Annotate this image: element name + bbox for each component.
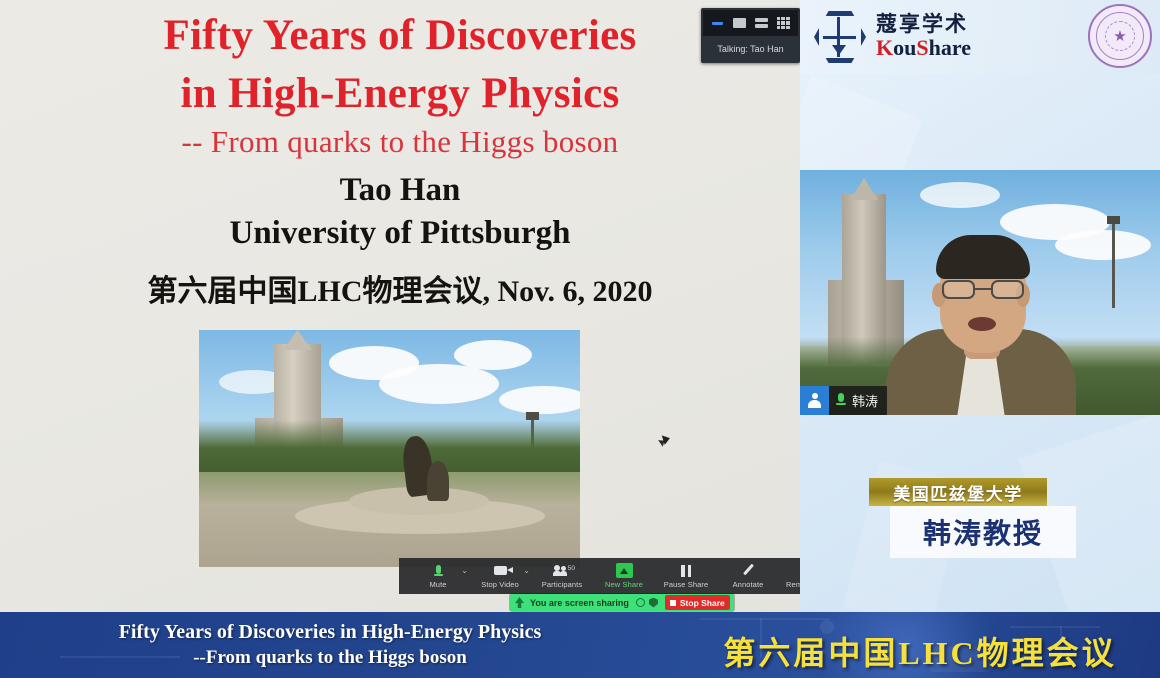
banner-conference-name: 第六届中国LHC物理会议 [700, 628, 1140, 674]
toolbar-annotate-label: Annotate [733, 580, 764, 589]
screen-root: Fifty Years of Discoveries in High-Energ… [0, 0, 1160, 678]
new-share-icon [616, 563, 633, 578]
slide-photo-campus [199, 330, 580, 567]
stop-square-icon [670, 600, 676, 606]
university-seal-icon: ★ [1088, 4, 1152, 68]
slide-conference-date: 第六届中国LHC物理会议, Nov. 6, 2020 [0, 266, 800, 310]
banner-title-line-2: --From quarks to the Higgs boson [0, 646, 660, 670]
pause-icon [681, 563, 691, 578]
shared-screen-region: Fifty Years of Discoveries in High-Energ… [0, 0, 800, 612]
chevron-down-icon[interactable]: ⌄ [461, 566, 468, 575]
speaker-organization-plate: 美国匹兹堡大学 [869, 478, 1047, 506]
toolbar-remote-control-label: Remote Control [786, 580, 800, 589]
speaker-organization-text: 美国匹兹堡大学 [893, 480, 1023, 505]
logo-letters-ou: ou [893, 35, 916, 60]
participants-count: 50 [568, 565, 575, 572]
speaker-video-feed[interactable]: 韩涛 [800, 170, 1160, 415]
circuit-decoration [700, 618, 830, 620]
logo-letters-hare: hare [929, 35, 971, 60]
speaker-hair [936, 235, 1030, 279]
chevron-down-icon[interactable]: ⌄ [523, 566, 530, 575]
toolbar-pause-share-label: Pause Share [664, 580, 708, 589]
microphone-icon [434, 563, 443, 578]
share-upload-icon [515, 597, 524, 608]
toolbar-stop-video-button[interactable]: Stop Video ⌄ [469, 558, 531, 594]
video-participant-name: 韩涛 [852, 391, 878, 410]
speaker-figure [886, 210, 1076, 415]
toolbar-new-share-button[interactable]: New Share [593, 558, 655, 594]
toolbar-participants-label: Participants [542, 580, 582, 589]
speaker-view-icon[interactable] [732, 17, 747, 30]
pencil-icon [742, 563, 755, 578]
toolbar-participants-button[interactable]: 50 Participants [531, 558, 593, 594]
cloud-shape [454, 340, 532, 370]
mouse-cursor [658, 437, 667, 446]
stop-share-button[interactable]: Stop Share [665, 595, 730, 610]
koushare-chinese-name: 蔻享学术 [876, 14, 971, 36]
logo-letter-s: S [916, 35, 928, 60]
bottom-banner: Fifty Years of Discoveries in High-Energ… [0, 612, 1160, 678]
gallery-view-icon[interactable] [776, 17, 791, 30]
slide-subtitle: -- From quarks to the Higgs boson [0, 126, 800, 158]
banner-talk-title: Fifty Years of Discoveries in High-Energ… [0, 620, 660, 670]
toolbar-stop-video-label: Stop Video [481, 580, 519, 589]
slide-title-line-1: Fifty Years of Discoveries [0, 14, 800, 59]
slide-affiliation: University of Pittsburgh [0, 215, 800, 252]
koushare-logo-header: 蔻享学术 KouShare ★ [800, 0, 1160, 74]
koushare-wordmark: 蔻享学术 KouShare [876, 14, 971, 59]
minimize-view-icon[interactable] [710, 17, 725, 30]
presentation-slide: Fifty Years of Discoveries in High-Energ… [0, 0, 800, 612]
screen-sharing-status-bar: You are screen sharing Stop Share [510, 594, 734, 611]
toolbar-pause-share-button[interactable]: Pause Share [655, 558, 717, 594]
cloud-shape [379, 364, 499, 404]
slide-title-line-2: in High-Energy Physics [0, 72, 800, 117]
camera-icon [494, 563, 507, 578]
koushare-hexagon-logo-icon [814, 11, 866, 63]
recording-indicator-icon[interactable] [636, 598, 645, 607]
cloud-shape [499, 386, 580, 414]
logo-letter-k: K [876, 35, 893, 60]
photo-fountain-statue-second [427, 461, 449, 501]
view-layout-switcher[interactable]: Talking: Tao Han [701, 8, 800, 63]
toolbar-new-share-label: New Share [605, 580, 643, 589]
video-participant-badge: 韩涛 [800, 386, 887, 415]
toolbar-mute-label: Mute [429, 580, 446, 589]
speaker-name-text: 韩涛教授 [923, 512, 1043, 552]
stop-share-label: Stop Share [680, 598, 725, 608]
banner-title-line-1: Fifty Years of Discoveries in High-Energ… [0, 620, 660, 646]
toolbar-annotate-button[interactable]: Annotate [717, 558, 779, 594]
slide-author: Tao Han [0, 172, 800, 209]
microphone-active-icon [836, 393, 845, 409]
speaker-mouth [968, 317, 996, 331]
zoom-meeting-toolbar[interactable]: Mute ⌄ Stop Video ⌄ 50 Participants [399, 558, 800, 594]
view-icon-row[interactable] [703, 10, 798, 36]
speaker-glasses [942, 280, 1024, 299]
koushare-english-name: KouShare [876, 36, 971, 59]
toolbar-remote-control-button[interactable]: Remote Control [779, 558, 800, 594]
security-shield-icon[interactable] [649, 598, 658, 608]
cloud-shape [920, 182, 1000, 208]
split-view-icon[interactable] [754, 17, 769, 30]
video-lamp-post [1112, 222, 1115, 308]
toolbar-mute-button[interactable]: Mute ⌄ [407, 558, 469, 594]
talking-indicator: Talking: Tao Han [701, 36, 800, 62]
speaker-name-plate: 韩涛教授 [890, 506, 1076, 558]
participant-avatar-icon [800, 386, 829, 415]
participants-icon: 50 [553, 563, 571, 578]
sharing-status-text: You are screen sharing [530, 598, 629, 608]
